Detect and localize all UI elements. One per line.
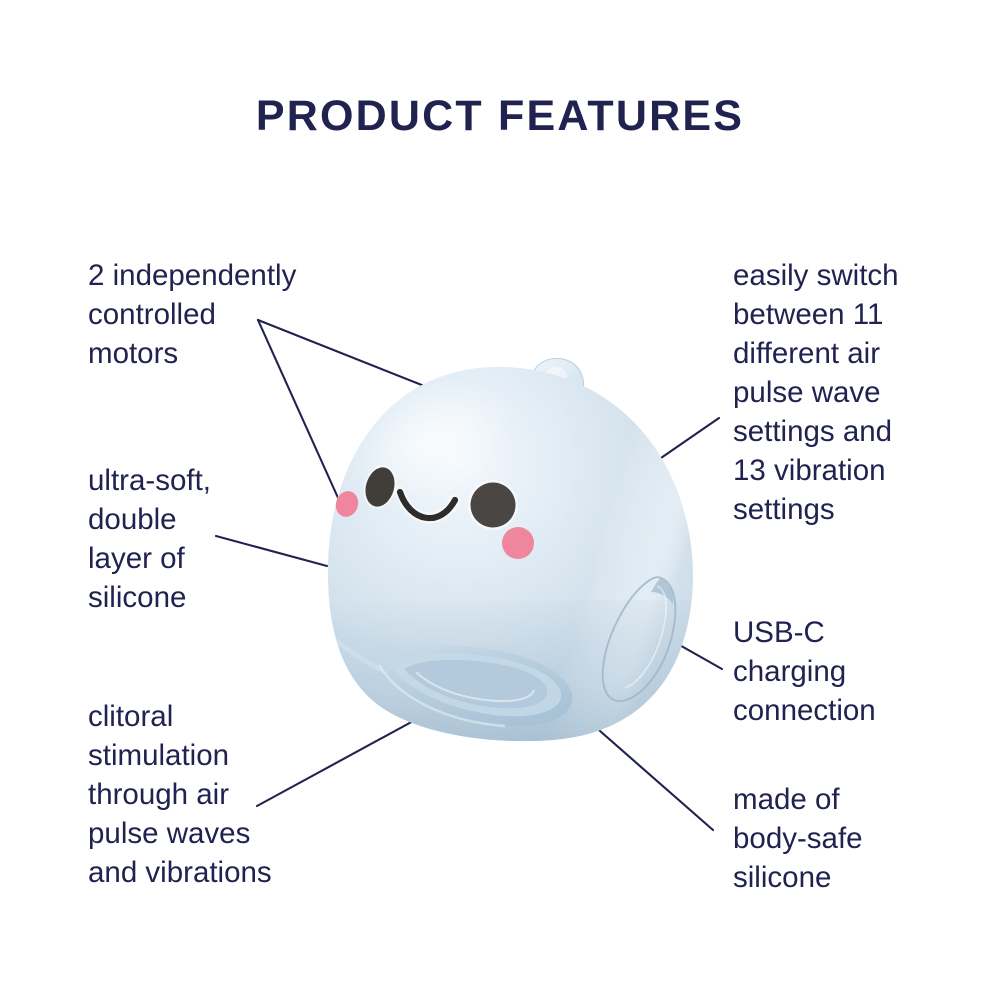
leader-line-bodysafe [592,724,713,830]
infographic-canvas: PRODUCT FEATURES [0,0,1000,1000]
callout-usb-c-charging-connection: USB-C charging connection [733,614,933,731]
callout-clitoral-stimulation: clitoral stimulation through air pulse w… [88,698,338,893]
callout-made-of-body-safe-silicone: made of body-safe silicone [733,781,933,898]
callout-air-pulse-and-vibration-settings: easily switch between 11 different air p… [733,257,933,530]
callout-2-independently-controlled-motors: 2 independently controlled motors [88,257,358,374]
callout-ultra-soft-double-layer-of-silicone: ultra-soft, double layer of silicone [88,462,318,618]
face-right-eye [468,480,518,530]
face-right-blush [502,527,534,559]
